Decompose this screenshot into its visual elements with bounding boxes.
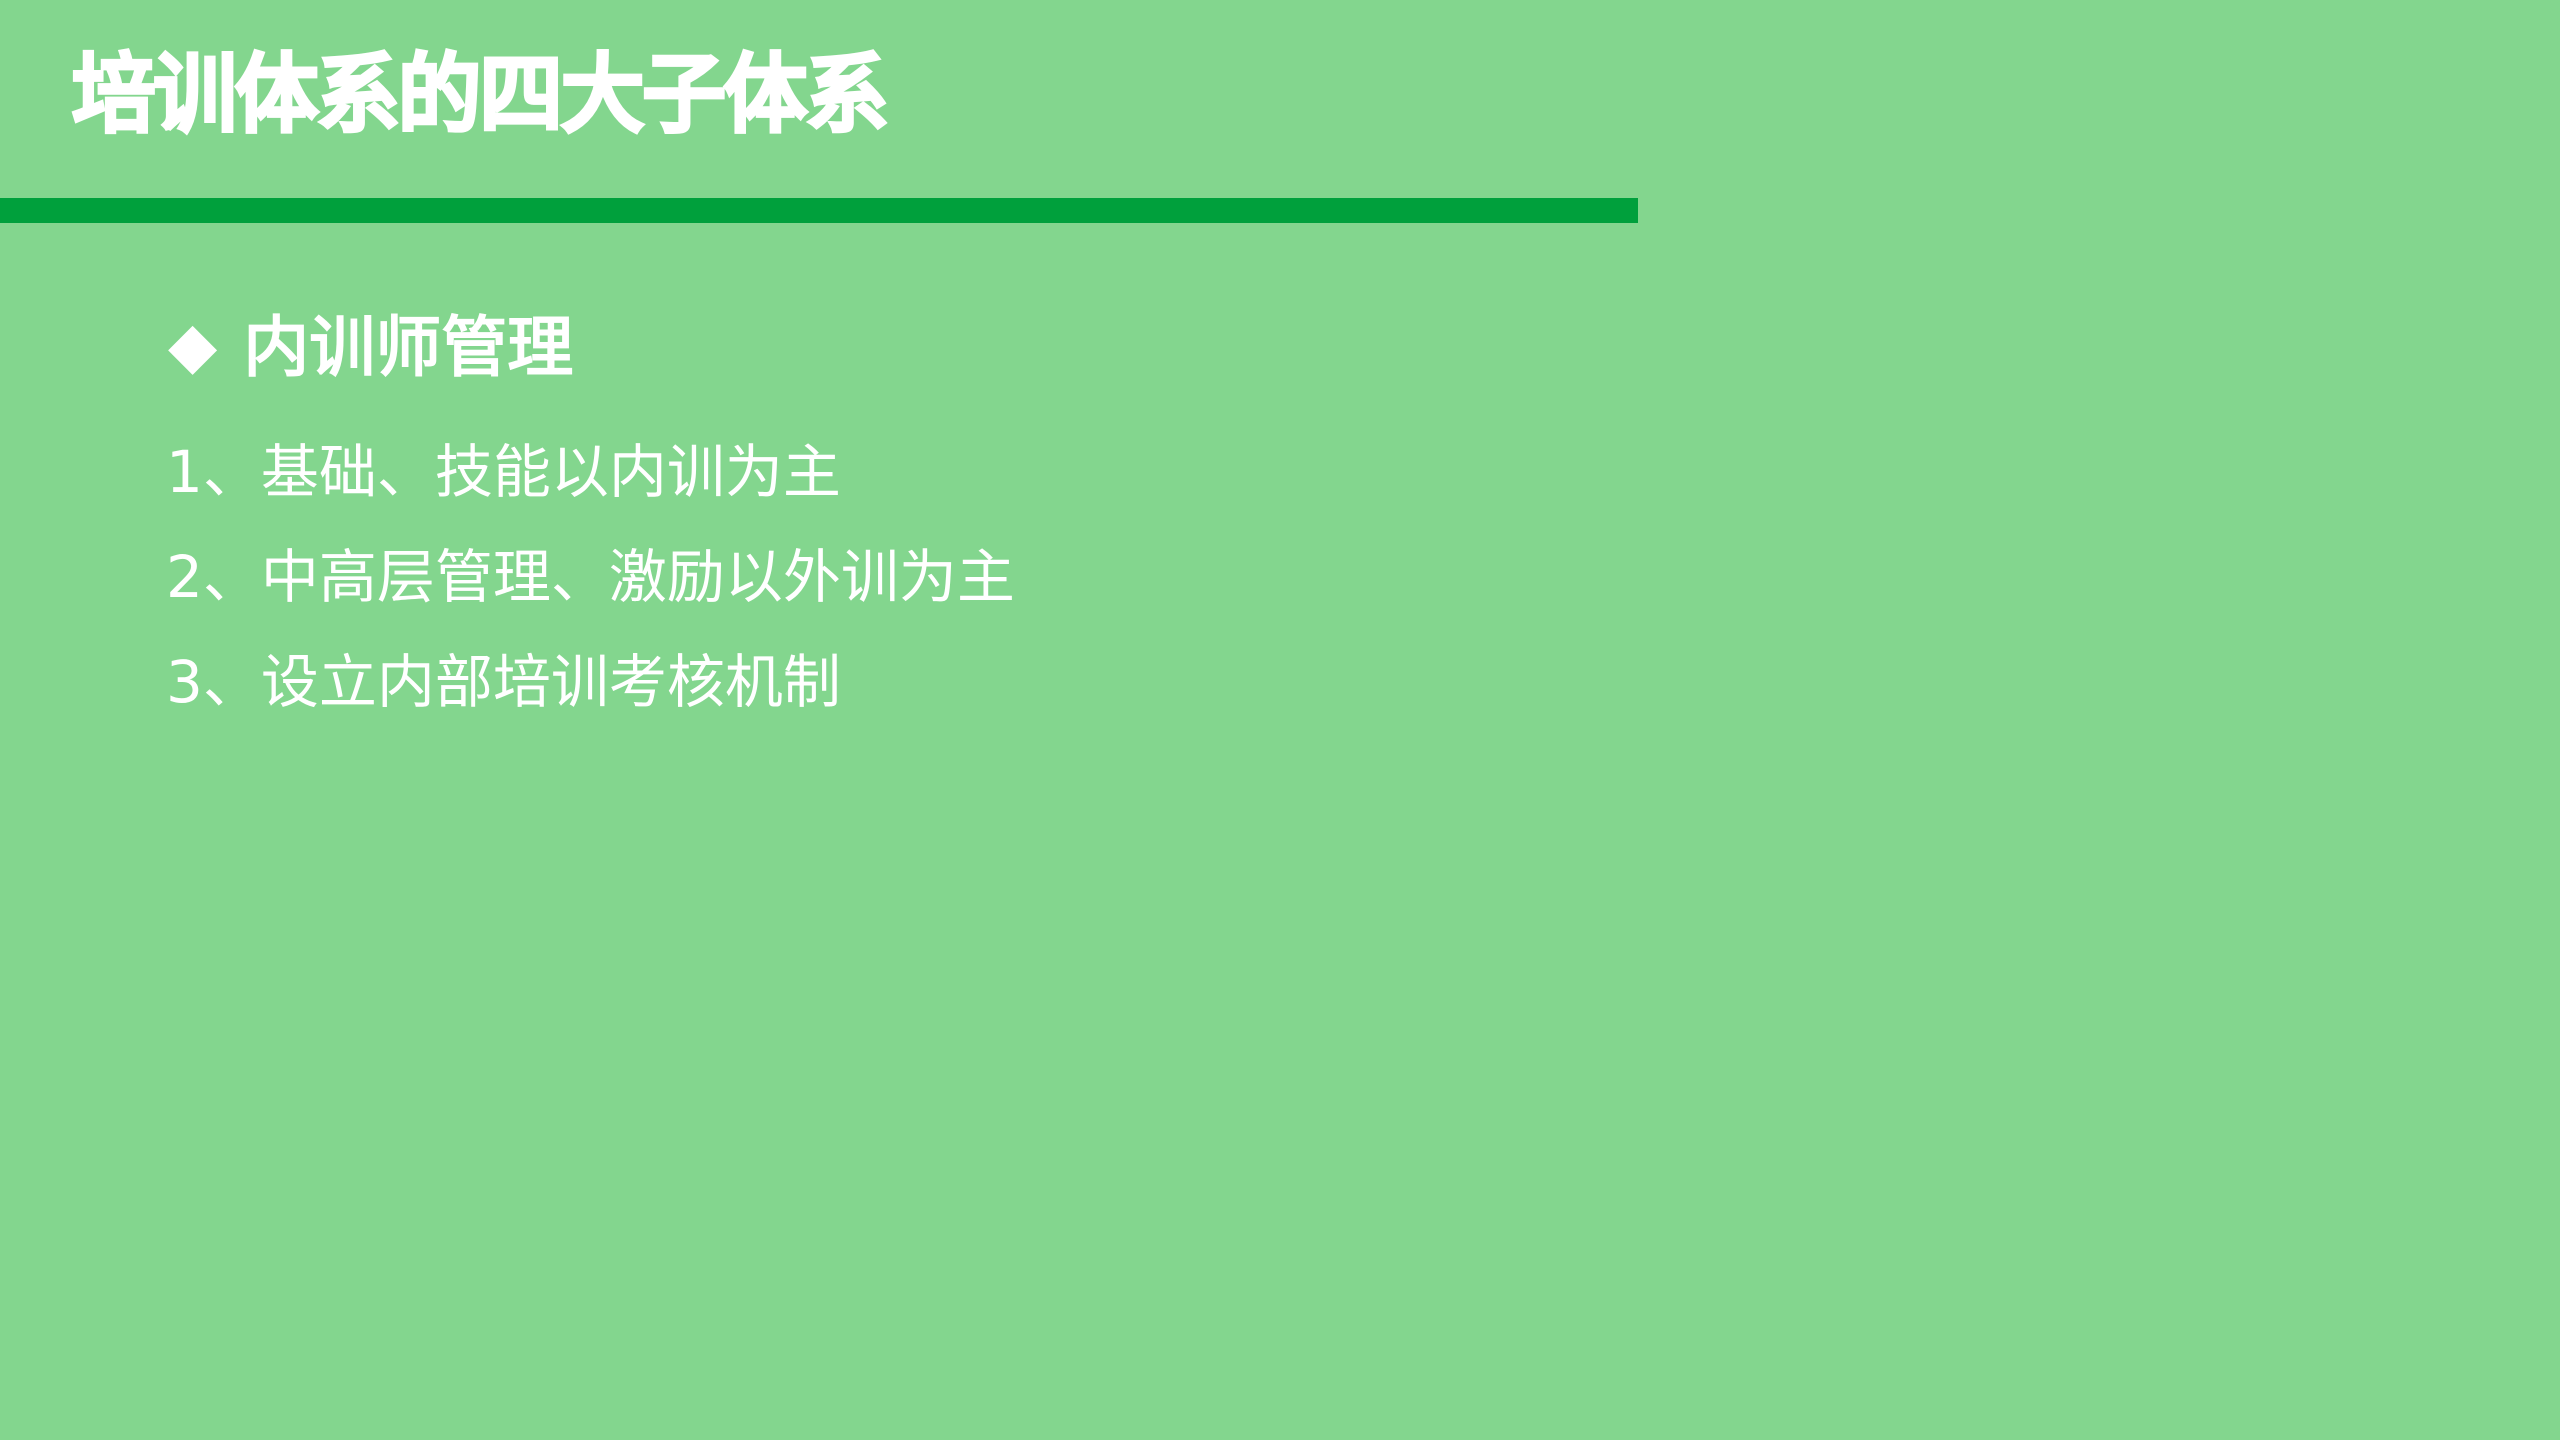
list-item: 2、中高层管理、激励以外训为主 (166, 525, 1015, 630)
list-item: 3、设立内部培训考核机制 (166, 630, 1015, 735)
section-heading-label: 内训师管理 (243, 315, 573, 381)
section-heading: ◆ 内训师管理 (168, 315, 573, 381)
list-item: 1、基础、技能以内训为主 (166, 420, 1015, 525)
page-title: 培训体系的四大子体系 (72, 52, 887, 138)
numbered-point-list: 1、基础、技能以内训为主 2、中高层管理、激励以外训为主 3、设立内部培训考核机… (166, 420, 1015, 735)
title-underline-bar (0, 198, 1638, 223)
slide-canvas: 培训体系的四大子体系 ◆ 内训师管理 1、基础、技能以内训为主 2、中高层管理、… (0, 0, 2560, 1440)
diamond-bullet-icon: ◆ (168, 314, 217, 378)
slide-title-area: 培训体系的四大子体系 (0, 0, 2560, 230)
